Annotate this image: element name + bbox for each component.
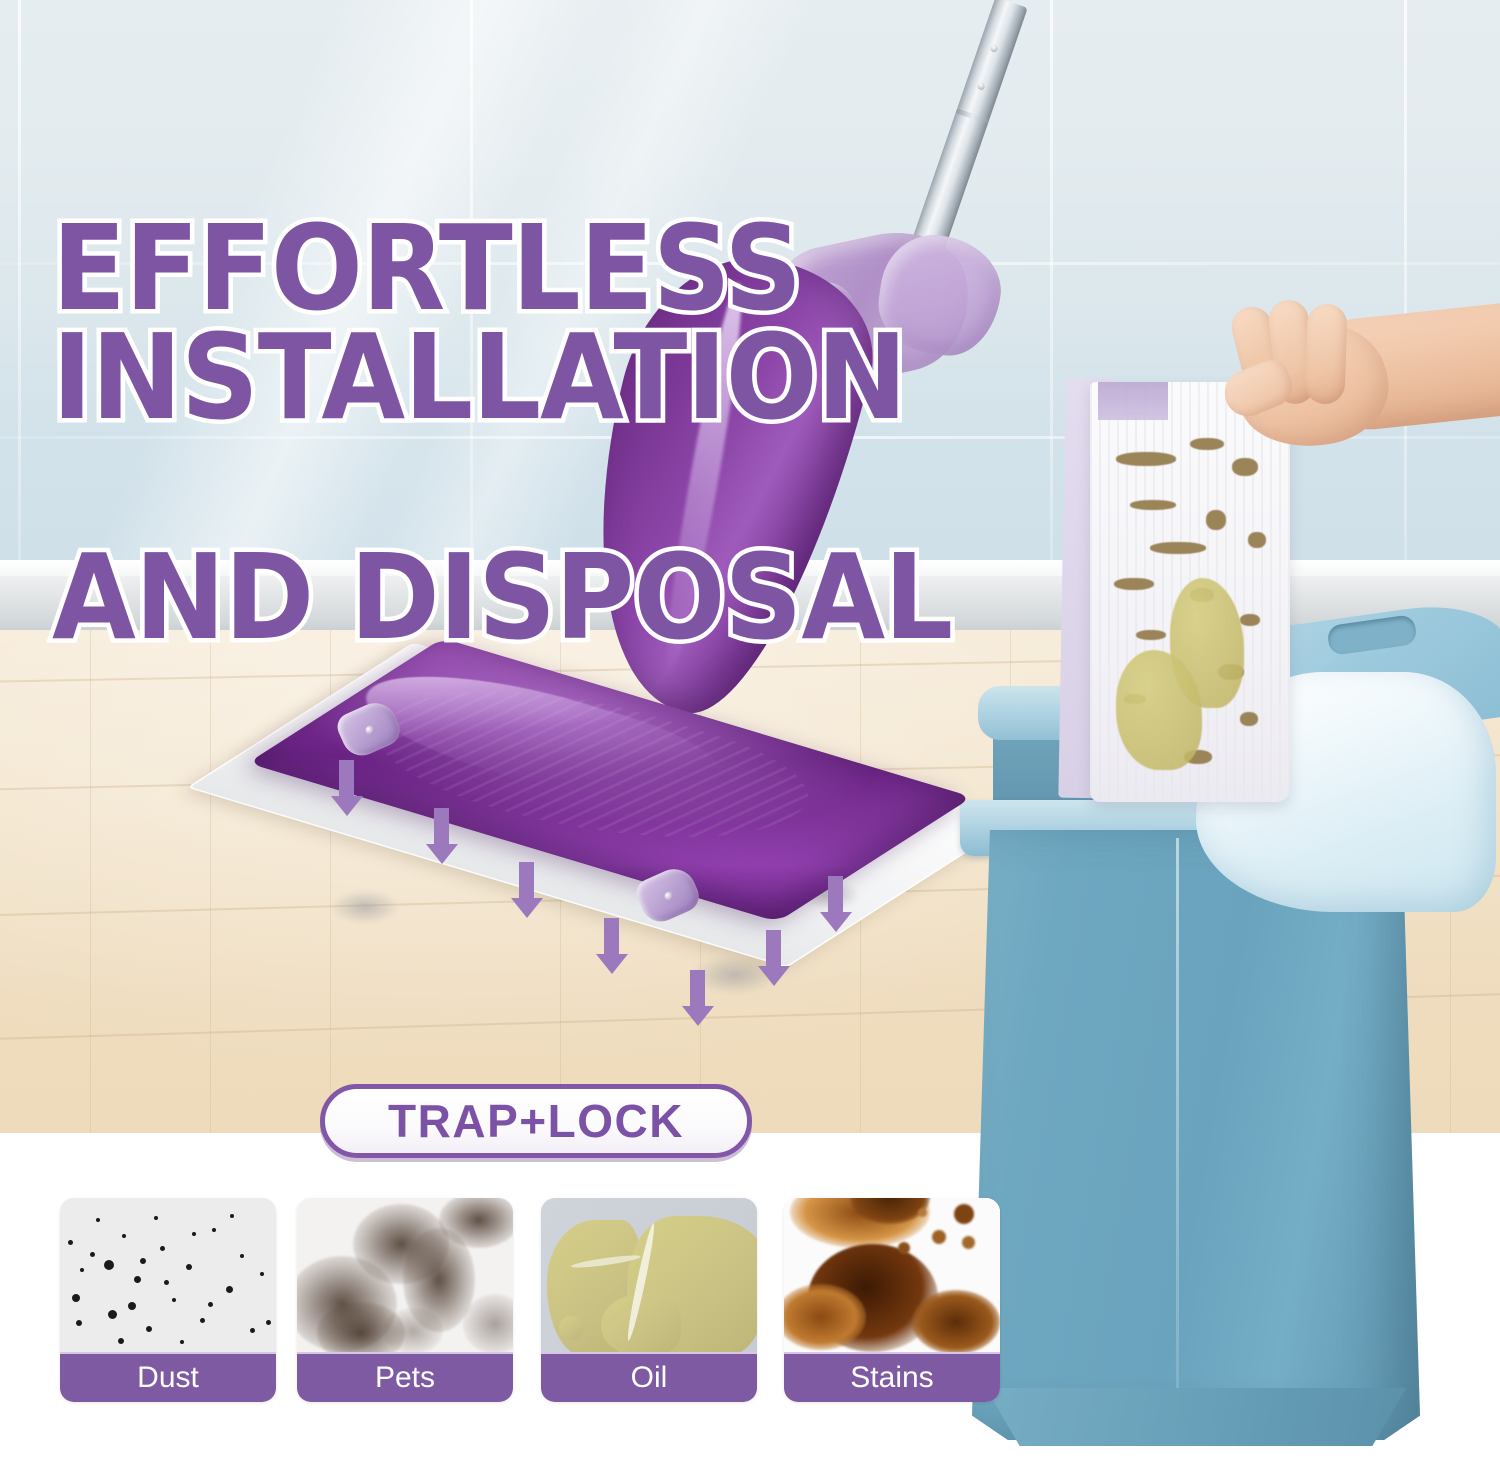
pole-adjust-hole [977, 82, 986, 91]
debris-card-pets: Pets [297, 1198, 513, 1402]
debris-card-label: Dust [137, 1363, 199, 1393]
debris-card-label: Stains [850, 1363, 933, 1393]
debris-card-label: Pets [375, 1363, 435, 1393]
wall-grout-line-vertical [18, 0, 21, 566]
page-title: EFFORTLESS INSTALLATION AND DISPOSAL [52, 104, 1480, 762]
debris-type-card-list: Dust Pets [0, 1198, 1500, 1408]
attachment-arrow [434, 808, 449, 848]
attachment-arrow [604, 918, 619, 958]
oil-swatch [541, 1198, 757, 1352]
attachment-arrow [766, 930, 781, 970]
debris-card-dust: Dust [60, 1198, 276, 1402]
pets-swatch [297, 1198, 513, 1352]
attachment-arrow [828, 876, 843, 916]
trap-lock-badge-label: TRAP+LOCK [388, 1098, 684, 1144]
stains-swatch [784, 1198, 1000, 1352]
debris-card-label-bar: Stains [784, 1352, 1000, 1402]
attachment-arrow [339, 760, 354, 800]
headline-line-1: EFFORTLESS INSTALLATION [52, 214, 1480, 433]
debris-card-label-bar: Oil [541, 1352, 757, 1402]
attachment-arrow [519, 862, 534, 902]
headline-line-2: AND DISPOSAL [52, 543, 1480, 653]
debris-card-label-bar: Dust [60, 1352, 276, 1402]
gripper-pin [663, 890, 675, 902]
attachment-arrow [690, 970, 705, 1010]
product-infographic: EFFORTLESS INSTALLATION AND DISPOSAL TRA… [0, 0, 1500, 1459]
debris-card-oil: Oil [541, 1198, 757, 1402]
debris-card-label: Oil [631, 1363, 668, 1393]
pad-smudge [330, 890, 400, 924]
dust-swatch [60, 1198, 276, 1352]
debris-card-stains: Stains [784, 1198, 1000, 1402]
trap-lock-badge: TRAP+LOCK [320, 1084, 752, 1158]
pole-adjust-hole [990, 44, 999, 53]
debris-card-label-bar: Pets [297, 1352, 513, 1402]
